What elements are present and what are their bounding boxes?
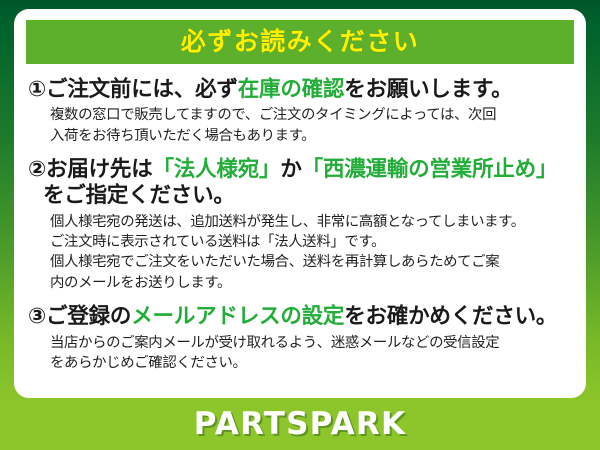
item-1-head-post: をお願いします。 bbox=[344, 77, 512, 101]
item-2-number: ② bbox=[28, 157, 46, 181]
notice-item-2-subtext: 個人様宅宛の発送は、追加送料が発生し、非常に高額となってしまいます。 ご注文時に… bbox=[28, 212, 572, 294]
item-3-sub-line-2: をあらかじめご確認ください。 bbox=[50, 353, 572, 373]
notice-item-2: ②お届け先は「法人様宛」か「西濃運輸の営業所止め」 をご指定ください。 個人様宅… bbox=[28, 156, 572, 293]
item-2-head-highlight-2: 「西濃運輸の営業所止め」 bbox=[302, 157, 558, 181]
notice-item-2-heading: ②お届け先は「法人様宛」か「西濃運輸の営業所止め」 bbox=[28, 156, 572, 182]
item-2-sub-line-2: ご注文時に表示されている送料は「法人送料」です。 bbox=[50, 232, 572, 252]
notice-item-3-heading: ③ご登録のメールアドレスの設定をお確かめください。 bbox=[28, 303, 572, 329]
item-3-sub-line-1: 当店からのご案内メールが受け取れるよう、迷惑メールなどの受信設定 bbox=[50, 333, 572, 353]
item-1-head-pre: ご注文前には、必ず bbox=[46, 77, 238, 101]
item-1-head-highlight: 在庫の確認 bbox=[238, 77, 345, 101]
item-2-sub-line-3: 個人様宅宛でご注文をいただいた場合、送料を再計算しあらためてご案 bbox=[50, 252, 572, 272]
brand-name: PARTSPARK bbox=[194, 406, 406, 442]
item-2-sub-line-4: 内のメールをお送りします。 bbox=[50, 273, 572, 293]
notice-item-1-heading: ①ご注文前には、必ず在庫の確認をお願いします。 bbox=[28, 76, 572, 102]
item-3-head-pre: ご登録の bbox=[46, 304, 131, 328]
notice-card: 必ずお読みください ①ご注文前には、必ず在庫の確認をお願いします。 複数の窓口で… bbox=[14, 9, 586, 398]
notice-item-1: ①ご注文前には、必ず在庫の確認をお願いします。 複数の窓口で販売してますので、ご… bbox=[28, 76, 572, 146]
notice-item-3-subtext: 当店からのご案内メールが受け取れるよう、迷惑メールなどの受信設定 をあらかじめご… bbox=[28, 333, 572, 374]
notice-item-2-heading-line2: をご指定ください。 bbox=[28, 182, 572, 208]
item-3-head-highlight: メールアドレスの設定 bbox=[131, 304, 344, 328]
item-1-sub-line-2: 入荷をお待ち頂いただく場合もあります。 bbox=[50, 126, 572, 146]
banner-title: 必ずお読みください bbox=[181, 30, 420, 55]
notice-page: 必ずお読みください ①ご注文前には、必ず在庫の確認をお願いします。 複数の窓口で… bbox=[0, 0, 600, 450]
notice-item-3: ③ご登録のメールアドレスの設定をお確かめください。 当店からのご案内メールが受け… bbox=[28, 303, 572, 373]
item-2-head-pre: お届け先は bbox=[46, 157, 153, 181]
item-3-number: ③ bbox=[28, 304, 46, 328]
item-3-head-post: をお確かめください。 bbox=[344, 304, 557, 328]
item-2-head-highlight: 「法人様宛」 bbox=[153, 157, 281, 181]
notice-banner: 必ずお読みください bbox=[26, 20, 574, 64]
item-1-number: ① bbox=[28, 77, 46, 101]
item-2-sub-line-1: 個人様宅宛の発送は、追加送料が発生し、非常に高額となってしまいます。 bbox=[50, 212, 572, 232]
item-1-sub-line-1: 複数の窓口で販売してますので、ご注文のタイミングによっては、次回 bbox=[50, 105, 572, 125]
notice-item-1-subtext: 複数の窓口で販売してますので、ご注文のタイミングによっては、次回 入荷をお待ち頂… bbox=[28, 105, 572, 146]
item-2-head-mid: か bbox=[280, 157, 301, 181]
notice-body: ①ご注文前には、必ず在庫の確認をお願いします。 複数の窓口で販売してますので、ご… bbox=[26, 76, 574, 374]
brand-footer: PARTSPARK bbox=[0, 398, 600, 450]
